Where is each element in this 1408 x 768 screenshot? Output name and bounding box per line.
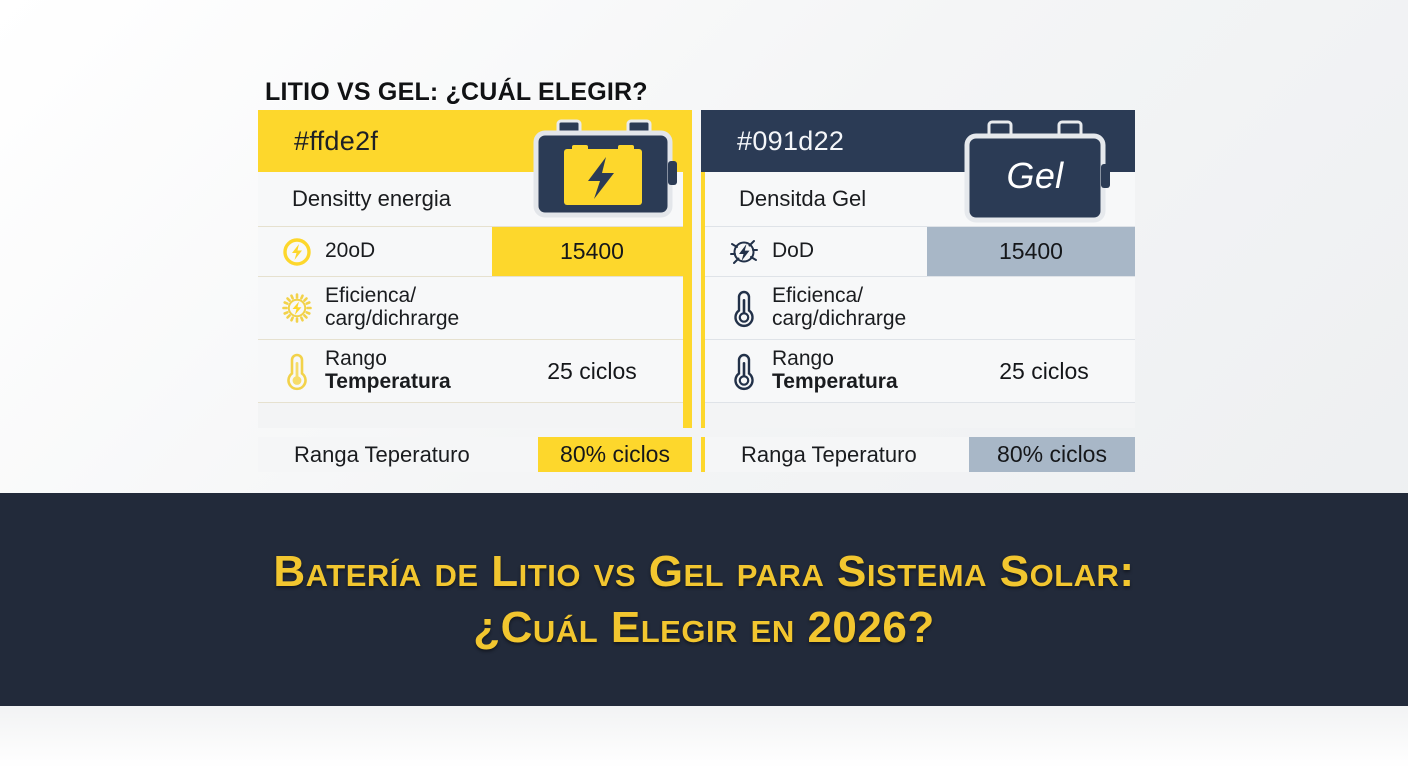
panel-gel-body: Densitda Gel bbox=[701, 172, 1135, 428]
row-value: 25 ciclos bbox=[969, 340, 1119, 402]
bottom-row-label: Ranga Teperaturo bbox=[294, 442, 470, 468]
table-row: RangoTemperatura 25 ciclos bbox=[705, 339, 1135, 402]
bottom-row-value: 80% ciclos bbox=[969, 437, 1135, 472]
table-row: 20oD 15400 bbox=[258, 226, 683, 276]
table-row-spacer bbox=[258, 402, 683, 428]
panel-gel: #091d22 Gel Densitda Gel bbox=[701, 110, 1135, 472]
row-label: DoD bbox=[772, 240, 814, 263]
table-row: Densitty energia bbox=[258, 172, 683, 226]
row-value: 15400 bbox=[492, 227, 692, 276]
bottom-row-value: 80% ciclos bbox=[538, 437, 692, 472]
panel-lithium: #ffde2f Densitty ene bbox=[258, 110, 692, 472]
bolt-burst-outline-icon bbox=[727, 233, 761, 271]
bolt-circle-icon bbox=[280, 233, 314, 271]
row-label: 20oD bbox=[325, 240, 375, 263]
panel-lithium-body: Densitty energia 20oD 15400 bbox=[258, 172, 692, 428]
panel-lithium-header-label: #ffde2f bbox=[294, 126, 378, 157]
page-title: LITIO VS GEL: ¿CUÁL ELEGIR? bbox=[265, 78, 648, 107]
row-label: RangoTemperatura bbox=[772, 348, 898, 393]
row-label: Densitda Gel bbox=[739, 187, 866, 211]
panel-gel-header: #091d22 Gel bbox=[701, 110, 1135, 172]
bottom-strip bbox=[0, 706, 1408, 768]
banner-line-1: Batería de Litio vs Gel para Sistema Sol… bbox=[273, 547, 1134, 597]
row-label: Eficienca/ carg/dichrarge bbox=[772, 285, 906, 330]
table-row: Eficienca/ carg/dichrarge bbox=[258, 276, 683, 339]
row-label: Eficienca/ carg/dichrarge bbox=[325, 285, 459, 330]
panel-gel-header-label: #091d22 bbox=[737, 126, 844, 157]
thermometer-outline-icon bbox=[727, 352, 761, 390]
bottom-row-gel: Ranga Teperaturo 80% ciclos bbox=[701, 437, 1135, 472]
panel-gel-stack: #091d22 Gel Densitda Gel bbox=[701, 110, 1135, 428]
panel-lithium-header: #ffde2f bbox=[258, 110, 692, 172]
row-label: Densitty energia bbox=[292, 187, 451, 211]
bottom-row-lithium: Ranga Teperaturo 80% ciclos bbox=[258, 437, 692, 472]
panel-lithium-stack: #ffde2f Densitty ene bbox=[258, 110, 692, 428]
row-value: 15400 bbox=[927, 227, 1135, 276]
bottom-row-label: Ranga Teperaturo bbox=[741, 442, 917, 468]
table-row: RangoTemperatura 25 ciclos bbox=[258, 339, 683, 402]
thermometer-outline-icon bbox=[727, 289, 761, 327]
table-row-spacer bbox=[705, 402, 1135, 428]
table-row: DoD 15400 bbox=[705, 226, 1135, 276]
comparison-board: #ffde2f Densitty ene bbox=[258, 110, 1144, 472]
thermometer-icon bbox=[280, 352, 314, 390]
table-row: Eficienca/ carg/dichrarge bbox=[705, 276, 1135, 339]
row-label: RangoTemperatura bbox=[325, 348, 451, 393]
table-row: Densitda Gel bbox=[705, 172, 1135, 226]
bolt-sunburst-icon bbox=[280, 289, 314, 327]
row-value: 25 ciclos bbox=[517, 340, 667, 402]
banner-line-2: ¿Cuál Elegir en 2026? bbox=[473, 603, 934, 653]
bottom-banner: Batería de Litio vs Gel para Sistema Sol… bbox=[0, 493, 1408, 706]
